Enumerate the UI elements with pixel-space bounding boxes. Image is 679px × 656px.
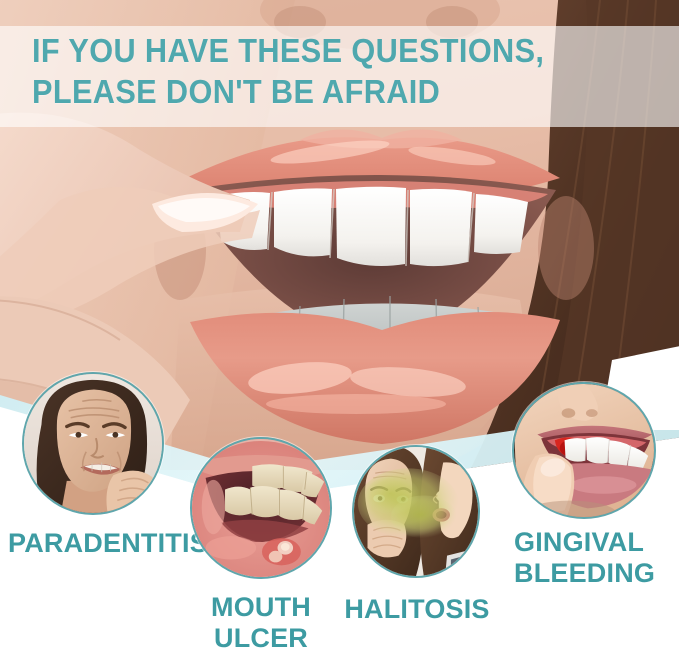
condition-label-halitosis: HALITOSIS (344, 594, 490, 625)
condition-image-mouth-ulcer[interactable] (190, 437, 332, 579)
condition-label-gingival-bleeding: GINGIVAL BLEEDING (514, 527, 679, 589)
page-title: IF YOU HAVE THESE QUESTIONS, PLEASE DON'… (32, 30, 627, 112)
condition-image-paradentitis[interactable] (22, 372, 164, 515)
condition-label-mouth-ulcer: MOUTH ULCER (190, 592, 332, 654)
condition-image-gingival-bleeding[interactable] (512, 382, 656, 519)
condition-image-halitosis[interactable] (352, 445, 480, 578)
condition-label-paradentitis: PARADENTITIS (8, 528, 208, 559)
dental-problems-poster: IF YOU HAVE THESE QUESTIONS, PLEASE DON'… (0, 0, 679, 656)
